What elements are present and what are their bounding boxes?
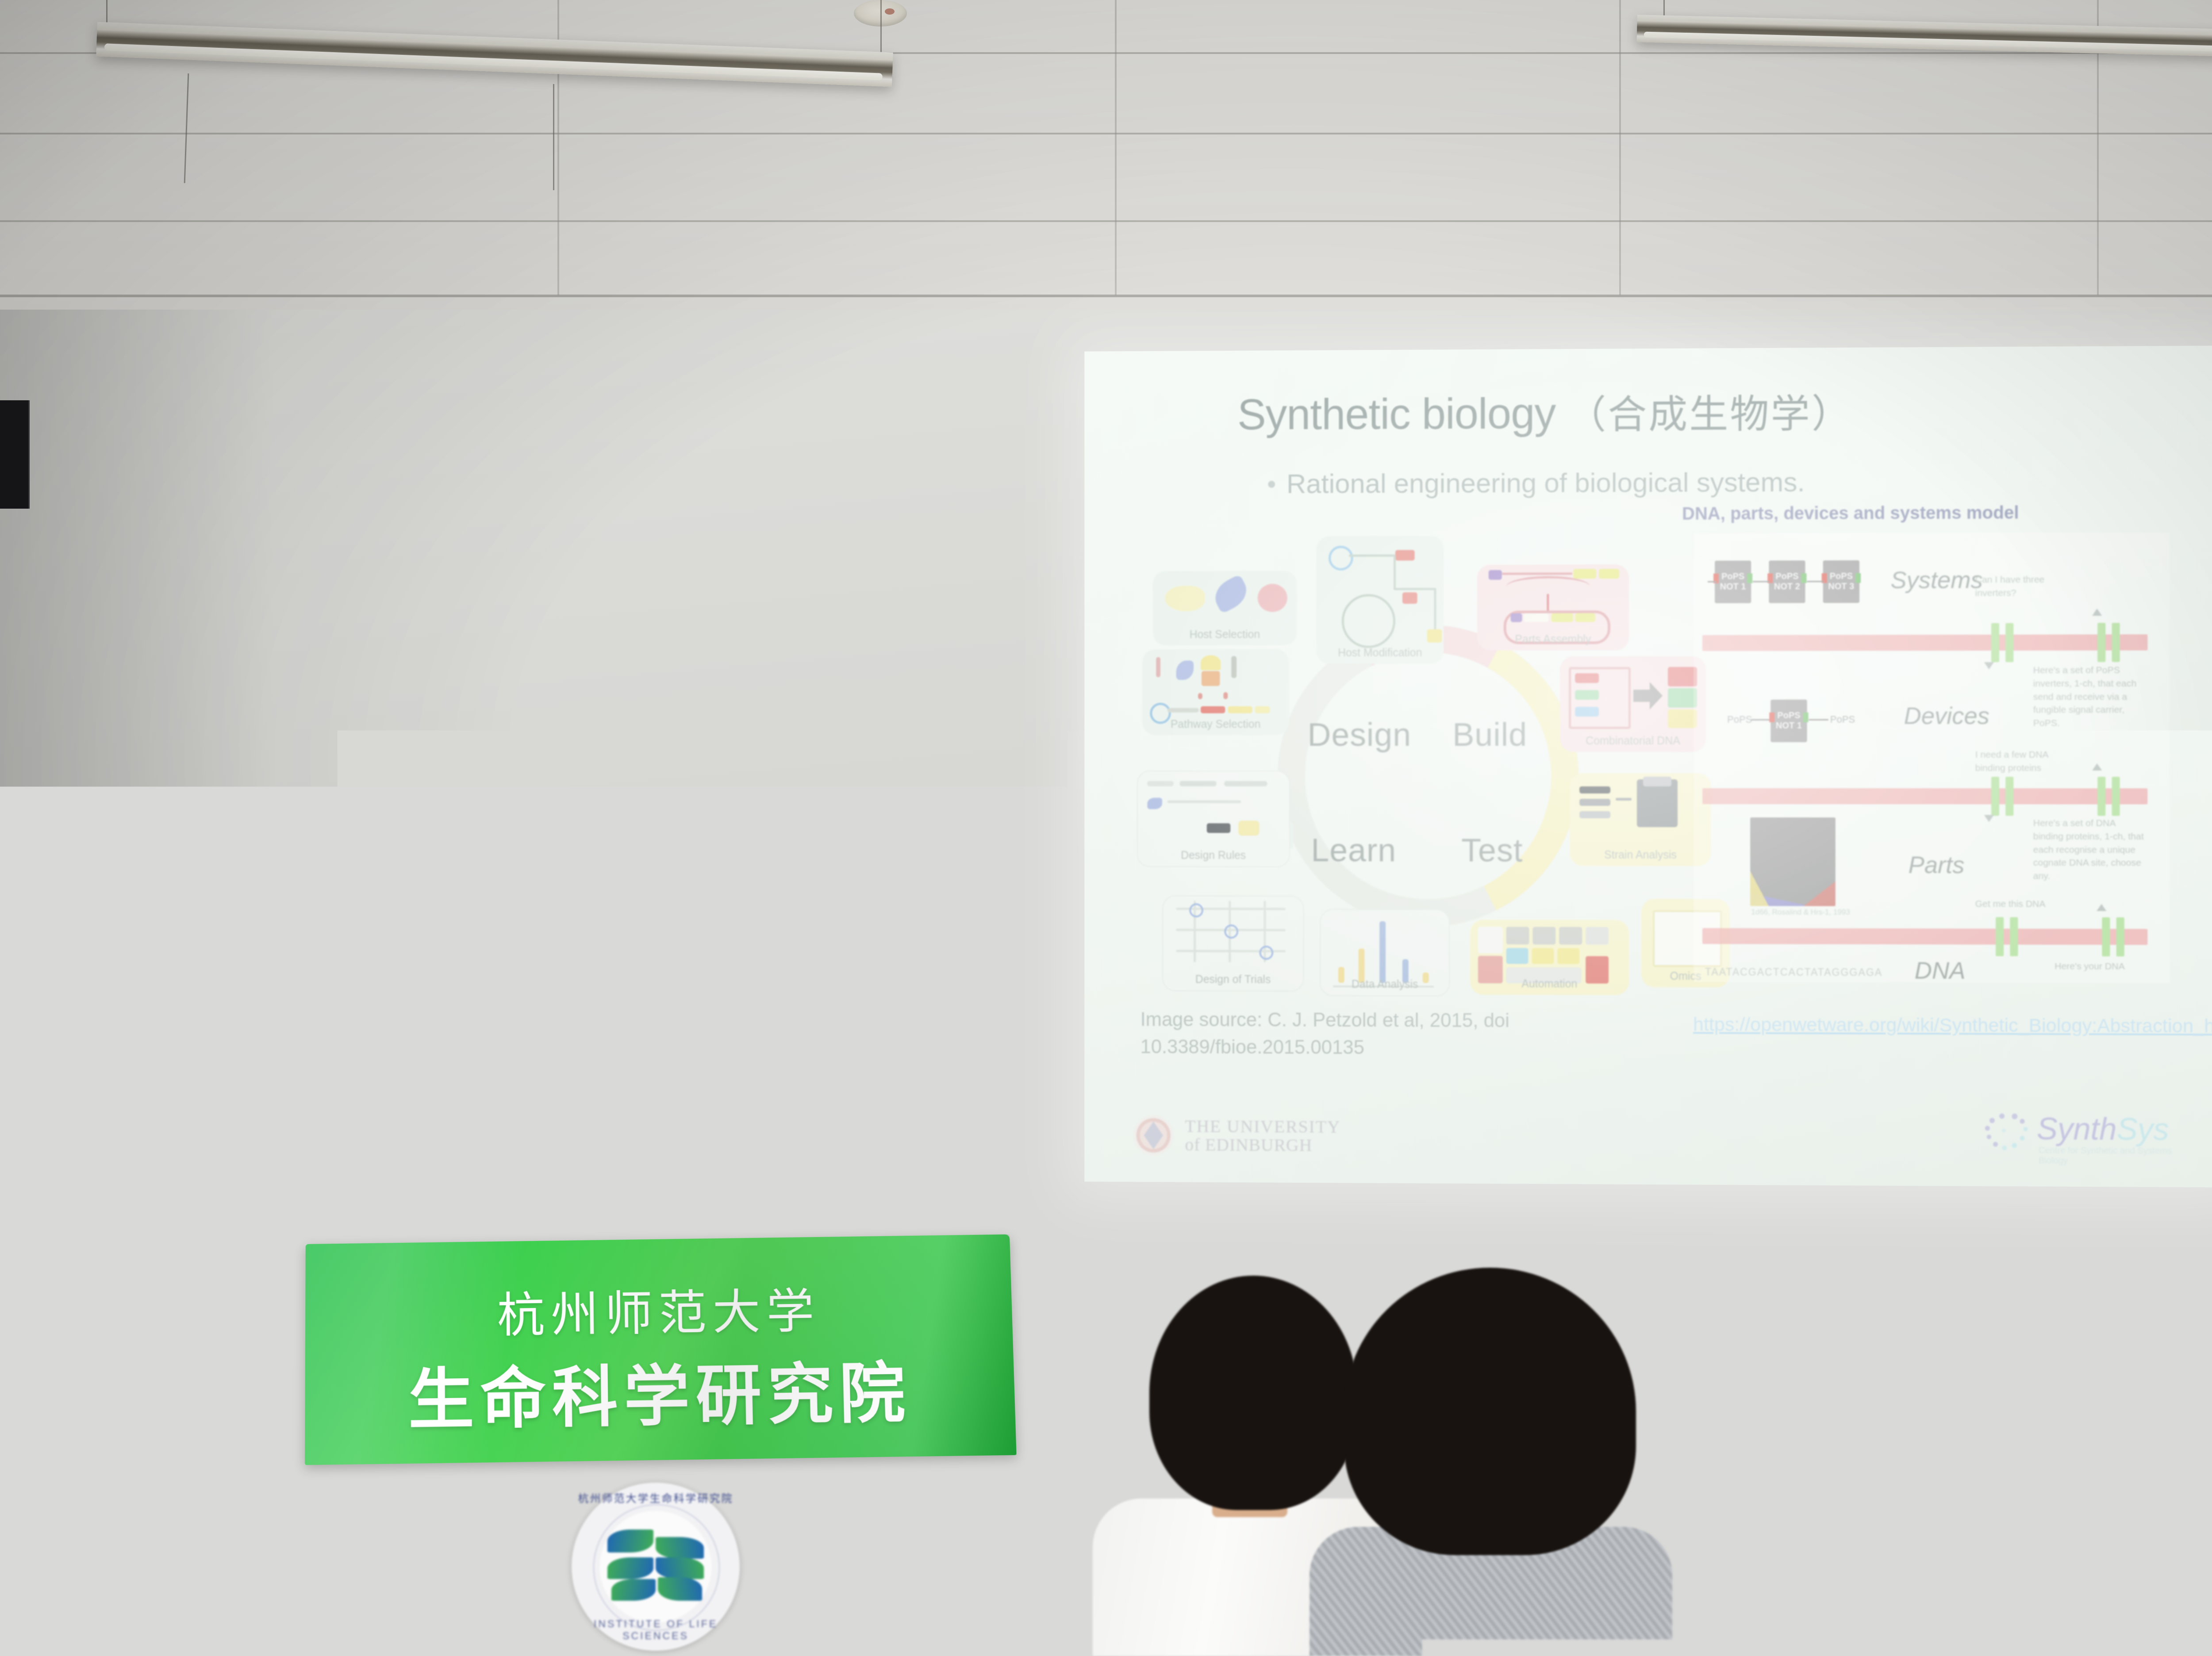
level-label-dna: DNA [1915,957,1966,985]
light-suspension-wire [880,0,882,57]
synthsys-subtitle: Centre for Synthetic and Systems Biology [2039,1146,2194,1167]
response-devices: Here's a set of DNA binding proteins, 1-… [2033,817,2147,883]
banner-line-1: 杭州师范大学 [305,1270,1013,1349]
audience-head [1149,1276,1357,1510]
slide-source-link[interactable]: https://openwetware.org/wiki/Synthetic_B… [1693,1011,2210,1040]
protein-caption: 1d66, Rosalind & Hrs-1, 1993 [1751,908,1850,916]
slide-title: Synthetic biology （合成生物学） [1237,381,2167,441]
tile-caption: Data Analysis [1321,978,1449,991]
tile-caption: Pathway Selection [1142,718,1289,731]
abstraction-hierarchy-diagram: DNA, parts, devices and systems model Po… [1682,502,2181,988]
level-label-parts: Parts [1909,851,1965,879]
device-box-label: PoPS NOT 3 [1823,571,1859,592]
light-suspension-wire [553,84,554,190]
hierarchy-title: DNA, parts, devices and systems model [1682,503,2019,524]
synthsys-logo: SynthSys Centre for Synthetic and System… [1984,1104,2194,1163]
signal-out-label: PoPS [1830,714,1855,725]
cycle-label-build: Build [1452,716,1527,753]
bottle-label-text: 矿泉水 [2158,1550,2182,1561]
university-line-2: of EDINBURGH [1185,1135,1340,1154]
device-box-1: PoPS NOT 1 [1715,560,1751,603]
university-line-1: THE UNIVERSITY [1185,1117,1340,1136]
ceiling-grid-line [0,220,2212,222]
emblem-english-text: INSTITUTE OF LIFE SCIENCES [572,1618,740,1642]
wall-plate [349,1139,399,1188]
image-source-citation: Image source: C. J. Petzold et al, 2015,… [1141,1006,1659,1063]
request-systems: Can I have three inverters? [1975,573,2078,600]
tile-host-selection: Host Selection [1152,571,1297,646]
presenter-glasses-lens-left [596,889,645,923]
presenter-glasses-bridge [639,898,649,901]
device-box-2: PoPS NOT 2 [1769,560,1805,603]
wall-shadow [0,310,274,1656]
tile-automation: Automation [1470,920,1629,995]
emblem-leaf-icon [605,1526,706,1604]
level-label-systems: Systems [1890,566,1982,594]
dna-backbone [1702,788,2147,804]
response-dna: Here's your DNA [2055,960,2153,974]
tile-design-rules: Design Rules [1137,770,1290,867]
podium-banner: 杭州师范大学 生命科学研究院 [305,1234,1017,1465]
bullet-dot-icon [1268,481,1275,488]
tile-design-of-trials: Design of Trials [1162,895,1304,992]
device-box-label: PoPS NOT 1 [1770,711,1807,731]
lecture-hall-photo: Synthetic biology （合成生物学） Rational engin… [0,0,2212,1656]
synthsys-wordmark: SynthSys [2037,1111,2169,1147]
tile-caption: Parts Assembly [1477,633,1629,646]
synthsys-part-b: Sys [2117,1112,2169,1146]
tile-pathway-selection: Pathway Selection [1142,649,1289,735]
tile-caption: Design Rules [1138,849,1289,862]
protein-structure-image [1750,817,1836,906]
dbtl-cycle-diagram: Design Build Test Learn Host Selection [1137,522,1669,995]
synthsys-dots-icon [1984,1112,2033,1159]
tile-caption: Host Selection [1152,628,1297,641]
ceiling-grid-line [1619,0,1621,295]
table-water-bottle[interactable]: 矿泉水 [2155,1429,2209,1593]
presenter-eyebrow [597,881,630,886]
signal-in-label: PoPS [1727,714,1752,725]
university-of-edinburgh-logo: THE UNIVERSITY of EDINBURGH [1133,1111,1414,1161]
device-box-single: PoPS NOT 1 [1770,700,1807,742]
tile-host-modification: Host Modification [1316,536,1444,664]
level-label-devices: Devices [1904,702,1989,729]
request-parts: Get me this DNA [1975,897,2078,911]
slide-bullet: Rational engineering of biological syste… [1268,465,2109,500]
slide-title-en: Synthetic biology [1237,389,1555,439]
cycle-label-learn: Learn [1311,831,1396,869]
tile-data-analysis: Data Analysis [1320,909,1450,997]
bottle-tree-icon [2161,1511,2175,1531]
tile-parts-assembly: Parts Assembly [1477,564,1629,650]
emblem-chinese-text: 杭州师范大学生命科学研究院 [572,1490,740,1505]
ceiling-grid-line [1115,0,1117,295]
office-chair[interactable] [1827,1575,2181,1656]
synthsys-part-a: Synth [2037,1112,2117,1146]
device-box-3: PoPS NOT 3 [1823,560,1859,603]
slide-title-cn: （合成生物学） [1567,391,1852,437]
dna-backbone [1702,634,2147,651]
presentation-slide: Synthetic biology （合成生物学） Rational engin… [1084,345,2212,1187]
wall-mounted-panel [0,400,30,509]
ceiling-grid-line [0,133,2212,134]
cycle-label-design: Design [1308,716,1412,753]
device-box-label: PoPS NOT 2 [1769,571,1805,592]
cycle-label-test: Test [1461,832,1523,869]
presenter-mouth [639,932,666,949]
audience-head [1344,1268,1636,1555]
presenter-eyebrow [649,879,681,884]
dna-sequence: TAATACGACTCACTATAGGGAGA [1705,966,1882,978]
device-box-label: PoPS NOT 1 [1715,571,1751,592]
tile-caption: Automation [1470,977,1629,991]
presenter-glasses-lens-right [647,889,695,923]
tile-caption: Host Modification [1316,647,1444,659]
edinburgh-crest-icon [1133,1115,1174,1156]
tile-caption: Design of Trials [1163,973,1303,986]
projection-screen: Synthetic biology （合成生物学） Rational engin… [1084,345,2212,1187]
response-systems: Here's a set of PoPS inverters, 1-ch, th… [2033,664,2145,730]
banner-line-2: 生命科学研究院 [305,1338,1016,1443]
ceiling-wall-join [0,295,2212,297]
dna-backbone [1702,928,2147,945]
institute-emblem: 杭州师范大学生命科学研究院 INSTITUTE OF LIFE SCIENCES [572,1483,740,1651]
slide-bullet-text: Rational engineering of biological syste… [1286,467,1805,499]
bottle-label: 矿泉水 [2155,1506,2209,1572]
request-devices: I need a few DNA binding proteins [1975,748,2078,775]
